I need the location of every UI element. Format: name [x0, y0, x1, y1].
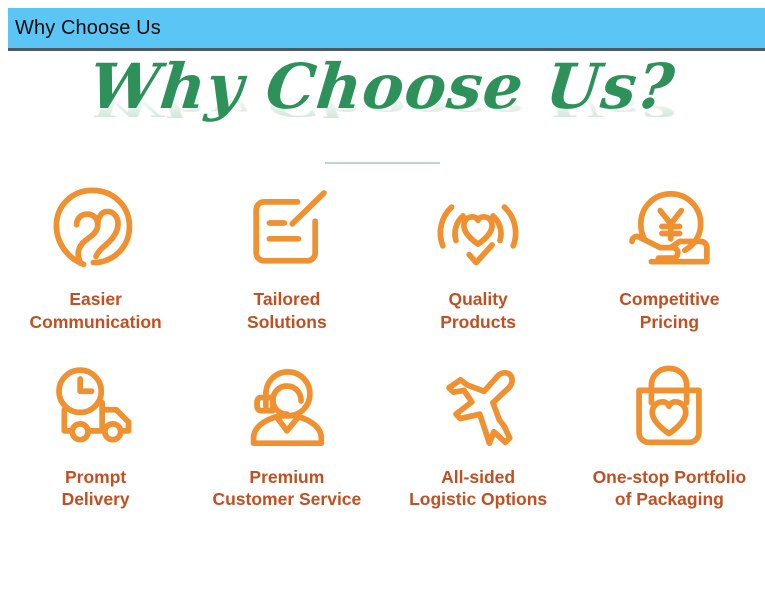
- feature-item-all-sided-logistic-options[interactable]: All-sided Logistic Options: [383, 362, 574, 512]
- feature-label: One-stop Portfolio of Packaging: [593, 466, 747, 512]
- feature-item-premium-customer-service[interactable]: Premium Customer Service: [191, 362, 382, 512]
- hero-title-wrap: Why Choose Us?: [0, 56, 765, 118]
- feature-label: All-sided Logistic Options: [409, 466, 547, 512]
- feature-label: Tailored Solutions: [247, 288, 327, 334]
- feature-item-competitive-pricing[interactable]: Competitive Pricing: [574, 184, 765, 334]
- feature-label: Easier Communication: [30, 288, 162, 334]
- feature-row: Prompt Delivery Premium Customer Service: [0, 362, 765, 512]
- airplane-icon: [432, 362, 524, 454]
- window-header-bar: Why Choose Us: [8, 8, 765, 51]
- hero-banner: Why Choose Us? Why Choose Us?: [0, 54, 765, 172]
- feature-label: Premium Customer Service: [212, 466, 361, 512]
- feature-row: Easier Communication Tailored Solutions: [0, 184, 765, 334]
- feature-item-easier-communication[interactable]: Easier Communication: [0, 184, 191, 334]
- document-pencil-icon: [241, 184, 333, 276]
- hero-title: Why Choose Us?: [87, 56, 678, 118]
- delivery-truck-clock-icon: [50, 362, 142, 454]
- feature-label: Prompt Delivery: [62, 466, 130, 512]
- hand-coin-yen-icon: [623, 184, 715, 276]
- feature-item-one-stop-portfolio-of-packaging[interactable]: One-stop Portfolio of Packaging: [574, 362, 765, 512]
- feature-label: Competitive Pricing: [619, 288, 719, 334]
- page-content: Why Choose Us? Why Choose Us? Easier Com…: [0, 54, 765, 599]
- feature-item-quality-products[interactable]: Quality Products: [383, 184, 574, 334]
- headset-person-icon: [241, 362, 333, 454]
- ear-listening-icon: [50, 184, 142, 276]
- page-title: Why Choose Us: [8, 18, 161, 38]
- feature-item-tailored-solutions[interactable]: Tailored Solutions: [191, 184, 382, 334]
- feature-item-prompt-delivery[interactable]: Prompt Delivery: [0, 362, 191, 512]
- hero-divider: [325, 162, 440, 164]
- hero-title-reflection: Why Choose Us?: [0, 120, 765, 182]
- shopping-bag-heart-icon: [623, 362, 715, 454]
- feature-label: Quality Products: [440, 288, 516, 334]
- features-grid: Easier Communication Tailored Solutions: [0, 184, 765, 511]
- heart-signal-check-icon: [432, 184, 524, 276]
